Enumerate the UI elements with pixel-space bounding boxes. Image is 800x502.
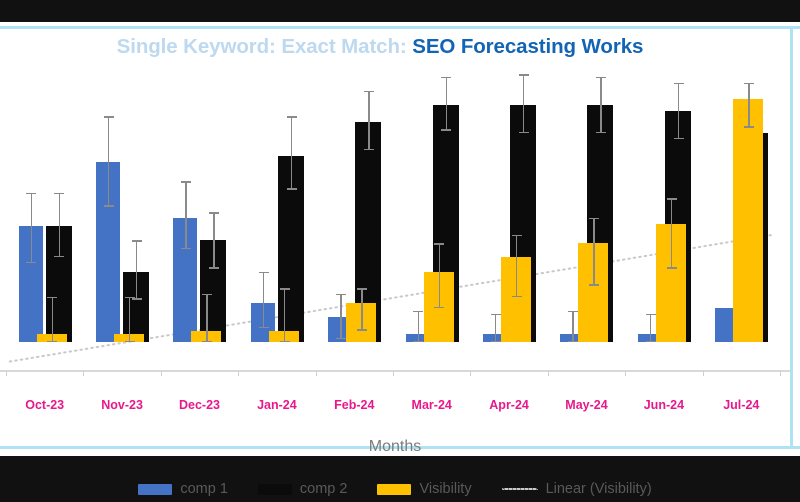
error-bar-cap-bottom bbox=[181, 248, 191, 249]
error-bar-cap-top bbox=[413, 311, 423, 312]
error-bar-cap-top bbox=[519, 74, 529, 75]
error-bar bbox=[439, 243, 440, 308]
legend-item[interactable]: Linear (Visibility) bbox=[502, 481, 652, 497]
error-bar-cap-top bbox=[259, 272, 269, 273]
error-bar-cap-top bbox=[287, 116, 297, 117]
error-bar-cap-bottom bbox=[596, 132, 606, 133]
error-bar-cap-bottom bbox=[259, 327, 269, 328]
error-bar-cap-top bbox=[54, 193, 64, 194]
error-bar-cap-top bbox=[744, 83, 754, 84]
error-bar bbox=[284, 288, 285, 342]
error-bar-cap-top bbox=[202, 294, 212, 295]
error-bar-cap-bottom bbox=[125, 341, 135, 342]
error-bar bbox=[340, 294, 341, 339]
error-bar-cap-bottom bbox=[744, 126, 754, 127]
error-bar bbox=[523, 74, 524, 133]
legend-swatch-icon bbox=[502, 488, 538, 490]
error-bar-cap-bottom bbox=[132, 298, 142, 299]
error-bar-cap-top bbox=[596, 77, 606, 78]
legend-item[interactable]: comp 2 bbox=[258, 481, 348, 497]
x-axis-label-feb-24: Feb-24 bbox=[316, 398, 393, 412]
error-bar-cap-bottom bbox=[336, 338, 346, 339]
x-axis-label-apr-24: Apr-24 bbox=[470, 398, 547, 412]
error-bar-cap-top bbox=[26, 193, 36, 194]
error-bar-cap-bottom bbox=[674, 138, 684, 139]
error-bar-cap-top bbox=[125, 297, 135, 298]
error-bar-cap-top bbox=[209, 212, 219, 213]
error-bar-cap-bottom bbox=[413, 341, 423, 342]
error-bar bbox=[572, 311, 573, 342]
error-bar bbox=[129, 297, 130, 342]
error-bar-cap-top bbox=[336, 294, 346, 295]
error-bar-cap-bottom bbox=[512, 296, 522, 297]
slide-canvas: Single Keyword: Exact Match: SEO Forecas… bbox=[0, 0, 800, 480]
error-bar-cap-bottom bbox=[589, 284, 599, 285]
error-bar-cap-bottom bbox=[568, 341, 578, 342]
error-bar-cap-bottom bbox=[26, 262, 36, 263]
error-bar bbox=[593, 218, 594, 286]
error-bar bbox=[213, 212, 214, 268]
frame-line-right bbox=[790, 26, 793, 449]
error-bar-cap-top bbox=[132, 240, 142, 241]
error-bar-cap-bottom bbox=[209, 267, 219, 268]
legend-label: comp 2 bbox=[300, 481, 348, 497]
error-bar-cap-top bbox=[512, 235, 522, 236]
error-bar-cap-bottom bbox=[364, 149, 374, 150]
error-bar bbox=[291, 116, 292, 189]
error-bar-cap-bottom bbox=[434, 307, 444, 308]
x-axis-label-jul-24: Jul-24 bbox=[703, 398, 780, 412]
error-bar-cap-bottom bbox=[287, 188, 297, 189]
error-bar-cap-bottom bbox=[104, 205, 114, 206]
error-bar bbox=[361, 288, 362, 330]
legend-label: Linear (Visibility) bbox=[546, 481, 652, 497]
error-bar bbox=[418, 311, 419, 342]
error-bar-cap-top bbox=[47, 297, 57, 298]
slide-body: Single Keyword: Exact Match: SEO Forecas… bbox=[0, 22, 800, 456]
error-bar-cap-bottom bbox=[47, 341, 57, 342]
x-axis-label-may-24: May-24 bbox=[548, 398, 625, 412]
error-bar-cap-bottom bbox=[54, 256, 64, 257]
x-axis-title: Months bbox=[0, 438, 790, 456]
legend-item[interactable]: Visibility bbox=[377, 481, 471, 497]
chart-title-prefix: Single Keyword: Exact Match: bbox=[117, 35, 407, 58]
chart-title: Single Keyword: Exact Match: SEO Forecas… bbox=[0, 35, 760, 59]
x-axis-labels: Oct-23Nov-23Dec-23Jan-24Feb-24Mar-24Apr-… bbox=[0, 398, 790, 420]
error-bar-cap-top bbox=[589, 218, 599, 219]
error-bar-cap-top bbox=[441, 77, 451, 78]
error-bar bbox=[748, 83, 749, 128]
legend-swatch-icon bbox=[138, 484, 172, 495]
error-bar-cap-bottom bbox=[519, 132, 529, 133]
x-axis-label-dec-23: Dec-23 bbox=[161, 398, 238, 412]
error-bar-cap-bottom bbox=[441, 129, 451, 130]
legend-label: Visibility bbox=[419, 481, 471, 497]
error-bar-cap-bottom bbox=[491, 341, 501, 342]
x-axis-label-oct-23: Oct-23 bbox=[6, 398, 83, 412]
error-bar-cap-top bbox=[646, 314, 656, 315]
error-bar-cap-bottom bbox=[646, 341, 656, 342]
error-bar bbox=[108, 116, 109, 206]
legend-swatch-icon bbox=[377, 484, 411, 495]
error-bar bbox=[59, 193, 60, 258]
error-bar bbox=[31, 193, 32, 264]
error-bar bbox=[136, 240, 137, 299]
plot-area: Oct-23Nov-23Dec-23Jan-24Feb-24Mar-24Apr-… bbox=[0, 60, 790, 342]
error-bar-cap-top bbox=[357, 288, 367, 289]
chart-title-emphasis: SEO Forecasting Works bbox=[412, 35, 643, 58]
error-bar bbox=[52, 297, 53, 342]
error-bar bbox=[650, 314, 651, 342]
x-axis-label-jan-24: Jan-24 bbox=[238, 398, 315, 412]
error-bar bbox=[678, 83, 679, 139]
x-axis-label-jun-24: Jun-24 bbox=[625, 398, 702, 412]
x-axis-label-nov-23: Nov-23 bbox=[83, 398, 160, 412]
error-bar-cap-top bbox=[104, 116, 114, 117]
letterbox-top bbox=[0, 0, 800, 22]
error-bar bbox=[206, 294, 207, 342]
error-bar-cap-bottom bbox=[202, 341, 212, 342]
error-bar bbox=[185, 181, 186, 249]
error-bar bbox=[516, 235, 517, 297]
error-bar-cap-bottom bbox=[357, 329, 367, 330]
error-bar bbox=[495, 314, 496, 342]
error-bar-cap-top bbox=[280, 288, 290, 289]
error-bar-cap-bottom bbox=[667, 267, 677, 268]
error-bar-cap-top bbox=[181, 181, 191, 182]
error-bar bbox=[600, 77, 601, 133]
error-bar-cap-bottom bbox=[280, 341, 290, 342]
error-bar bbox=[671, 198, 672, 269]
error-bar bbox=[263, 272, 264, 328]
legend-label: comp 1 bbox=[180, 481, 228, 497]
error-bar bbox=[446, 77, 447, 131]
frame-line-top bbox=[0, 26, 800, 29]
x-axis-label-mar-24: Mar-24 bbox=[393, 398, 470, 412]
error-bar bbox=[368, 91, 369, 150]
error-bar-cap-top bbox=[491, 314, 501, 315]
error-bar-cap-top bbox=[667, 198, 677, 199]
error-bar-cap-top bbox=[568, 311, 578, 312]
error-bar-cap-top bbox=[434, 243, 444, 244]
bar-visibility bbox=[733, 99, 763, 342]
error-bar-cap-top bbox=[674, 83, 684, 84]
legend-swatch-icon bbox=[258, 484, 292, 495]
error-bar-cap-top bbox=[364, 91, 374, 92]
legend-item[interactable]: comp 1 bbox=[138, 481, 228, 497]
